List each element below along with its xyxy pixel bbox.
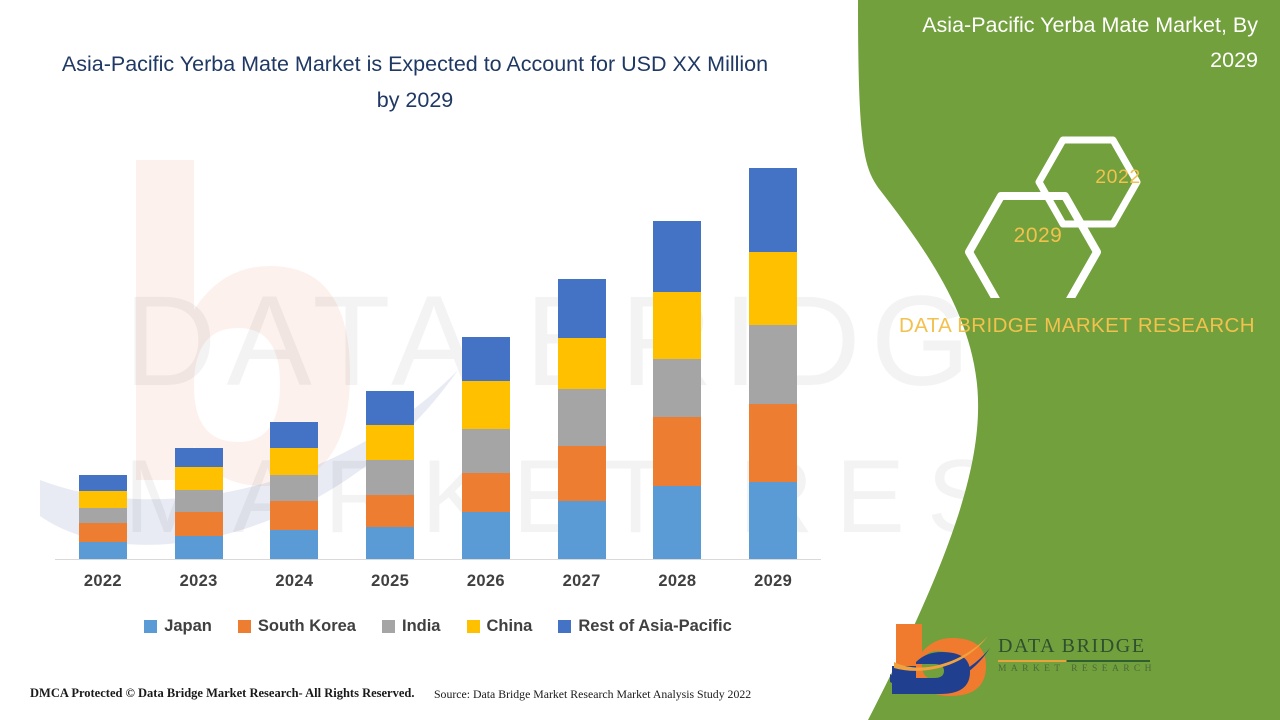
bar-segment[interactable]	[175, 512, 223, 536]
bar-group	[151, 150, 247, 559]
x-axis-label-2024: 2024	[247, 572, 343, 591]
bar-segment[interactable]	[270, 422, 318, 448]
bar-group	[247, 150, 343, 559]
x-axis-label-2027: 2027	[534, 572, 630, 591]
x-axis-label-2022: 2022	[55, 572, 151, 591]
legend-item[interactable]: Rest of Asia-Pacific	[558, 617, 731, 636]
bar-segment[interactable]	[462, 381, 510, 429]
bar-segment[interactable]	[749, 404, 797, 483]
bar-group	[342, 150, 438, 559]
bar-segment[interactable]	[749, 482, 797, 559]
legend-item[interactable]: Japan	[144, 617, 212, 636]
bar-segment[interactable]	[175, 536, 223, 559]
x-axis-label-2029: 2029	[725, 572, 821, 591]
x-axis-label-2028: 2028	[630, 572, 726, 591]
bar-segment[interactable]	[79, 508, 127, 524]
x-axis-tick-labels: 20222023202420252026202720282029	[55, 572, 821, 591]
stacked-bar[interactable]	[558, 279, 606, 559]
bar-group	[534, 150, 630, 559]
bar-segment[interactable]	[462, 337, 510, 381]
stacked-bar[interactable]	[653, 221, 701, 559]
hexagon-year-pair: 2029 2022	[965, 128, 1195, 298]
bar-segment[interactable]	[749, 252, 797, 325]
legend-item[interactable]: South Korea	[238, 617, 356, 636]
bar-segment[interactable]	[79, 491, 127, 508]
legend-label: Japan	[164, 617, 212, 636]
legend-label: South Korea	[258, 617, 356, 636]
hexagon-year-small: 2022	[1063, 166, 1173, 189]
stacked-bar[interactable]	[462, 337, 510, 559]
bar-segment[interactable]	[175, 467, 223, 490]
bar-segment[interactable]	[79, 475, 127, 491]
bar-segment[interactable]	[462, 512, 510, 559]
legend-swatch-icon	[467, 620, 480, 633]
legend-swatch-icon	[382, 620, 395, 633]
stacked-bar[interactable]	[749, 168, 797, 559]
bar-segment[interactable]	[175, 448, 223, 467]
bar-segment[interactable]	[366, 495, 414, 526]
logo-wordmark-sub: MARKET RESEARCH	[998, 664, 1158, 674]
x-axis-label-2026: 2026	[438, 572, 534, 591]
bar-segment[interactable]	[558, 446, 606, 502]
legend-label: Rest of Asia-Pacific	[578, 617, 731, 636]
bar-segment[interactable]	[270, 530, 318, 559]
bar-segment[interactable]	[79, 542, 127, 559]
stacked-bar-chart	[55, 150, 821, 560]
bar-segment[interactable]	[366, 527, 414, 560]
bar-segment[interactable]	[270, 501, 318, 529]
legend-item[interactable]: China	[467, 617, 533, 636]
chart-legend: JapanSouth KoreaIndiaChinaRest of Asia-P…	[55, 617, 821, 636]
bar-group	[55, 150, 151, 559]
bar-group	[438, 150, 534, 559]
hexagon-outlines-icon	[965, 128, 1195, 298]
infographic-canvas: DATA BRIDGE MARKET RESEARCH Asia-Pacific…	[0, 0, 1280, 720]
bar-segment[interactable]	[366, 460, 414, 495]
bar-segment[interactable]	[175, 490, 223, 512]
bar-segment[interactable]	[653, 359, 701, 418]
x-axis-label-2023: 2023	[151, 572, 247, 591]
bar-segment[interactable]	[366, 425, 414, 461]
dmca-notice: DMCA Protected © Data Bridge Market Rese…	[30, 686, 415, 701]
legend-swatch-icon	[238, 620, 251, 633]
legend-item[interactable]: India	[382, 617, 441, 636]
stacked-bar[interactable]	[79, 475, 127, 559]
page-title: Asia-Pacific Yerba Mate Market is Expect…	[60, 46, 770, 118]
bar-segment[interactable]	[270, 475, 318, 501]
bar-group	[725, 150, 821, 559]
bar-segment[interactable]	[653, 417, 701, 485]
stacked-bar[interactable]	[175, 448, 223, 559]
green-side-panel: Asia-Pacific Yerba Mate Market, By 2029 …	[840, 0, 1280, 720]
bar-segment[interactable]	[558, 501, 606, 559]
logo-wordmark-main: DATA BRIDGE	[998, 634, 1158, 658]
data-bridge-logo: DATA BRIDGE MARKET RESEARCH	[888, 622, 1148, 698]
hexagon-year-large: 2029	[983, 224, 1093, 248]
legend-label: India	[402, 617, 441, 636]
legend-swatch-icon	[144, 620, 157, 633]
bar-segment[interactable]	[79, 523, 127, 542]
logo-divider	[998, 660, 1150, 662]
bar-segment[interactable]	[462, 429, 510, 473]
bar-segment[interactable]	[558, 279, 606, 338]
bar-segment[interactable]	[270, 448, 318, 475]
bar-group	[630, 150, 726, 559]
bar-segment[interactable]	[749, 168, 797, 252]
logo-mark-icon	[888, 622, 992, 696]
chart-plot-area	[55, 150, 821, 559]
logo-wordmark: DATA BRIDGE MARKET RESEARCH	[998, 634, 1158, 674]
bar-segment[interactable]	[653, 292, 701, 359]
panel-title: Asia-Pacific Yerba Mate Market, By 2029	[906, 8, 1258, 78]
x-axis-line	[55, 559, 821, 560]
source-note: Source: Data Bridge Market Research Mark…	[434, 687, 751, 702]
x-axis-label-2025: 2025	[342, 572, 438, 591]
bar-segment[interactable]	[558, 389, 606, 446]
bar-segment[interactable]	[653, 486, 701, 559]
bar-segment[interactable]	[366, 391, 414, 425]
legend-swatch-icon	[558, 620, 571, 633]
bar-segment[interactable]	[558, 338, 606, 389]
green-panel-shape	[840, 0, 1280, 720]
bar-segment[interactable]	[462, 473, 510, 512]
stacked-bar[interactable]	[366, 391, 414, 559]
bar-segment[interactable]	[749, 325, 797, 404]
brand-name: DATA BRIDGE MARKET RESEARCH	[892, 310, 1262, 342]
stacked-bar[interactable]	[270, 422, 318, 559]
bar-segment[interactable]	[653, 221, 701, 291]
legend-label: China	[487, 617, 533, 636]
